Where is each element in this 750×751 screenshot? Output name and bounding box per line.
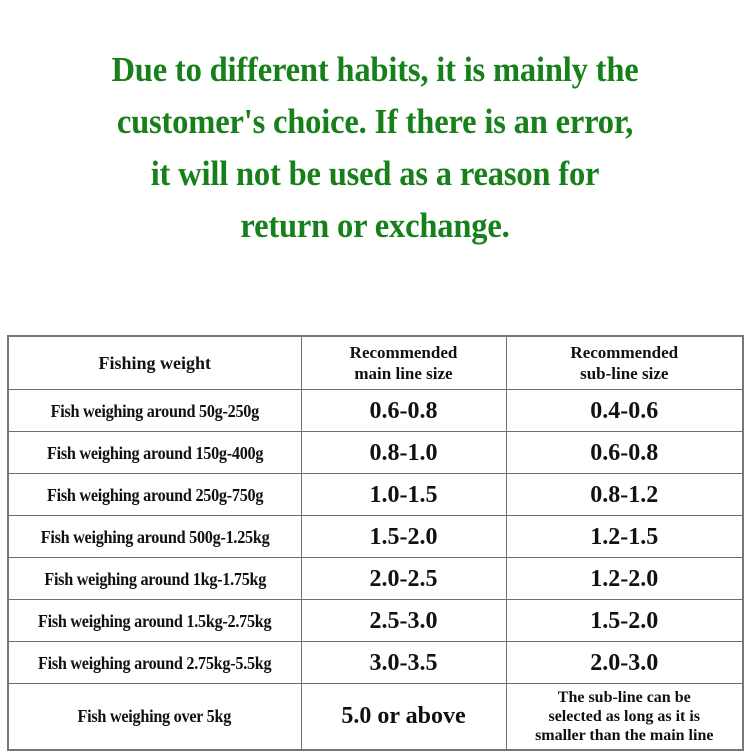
heading-line-1: Due to different habits, it is mainly th… (26, 44, 724, 96)
cell-sub-line-note-line1: The sub-line can be (513, 688, 737, 707)
heading-line-3: it will not be used as a reason for (26, 148, 724, 200)
cell-sub-line-size: 1.5-2.0 (506, 600, 743, 642)
table-row: Fish weighing around 1kg-1.75kg 2.0-2.5 … (8, 558, 743, 600)
table-row: Fish weighing around 250g-750g 1.0-1.5 0… (8, 474, 743, 516)
table-row: Fish weighing around 500g-1.25kg 1.5-2.0… (8, 516, 743, 558)
cell-fishing-weight-text: Fish weighing around 250g-750g (47, 484, 263, 506)
cell-sub-line-size-text: 1.5-2.0 (590, 607, 658, 635)
column-header-fishing-weight: Fishing weight (8, 336, 301, 390)
cell-sub-line-size-text: 1.2-2.0 (590, 565, 658, 593)
column-header-main-line-size: Recommended main line size (301, 336, 506, 390)
page-heading: Due to different habits, it is mainly th… (26, 44, 724, 252)
cell-main-line-size: 2.5-3.0 (301, 600, 506, 642)
cell-main-line-size: 1.5-2.0 (301, 516, 506, 558)
cell-fishing-weight-text: Fish weighing around 1.5kg-2.75kg (38, 610, 271, 632)
cell-sub-line-size: 0.8-1.2 (506, 474, 743, 516)
cell-fishing-weight-text: Fish weighing around 500g-1.25kg (40, 526, 269, 548)
cell-main-line-size: 0.6-0.8 (301, 390, 506, 432)
cell-fishing-weight-text: Fish weighing around 50g-250g (51, 400, 259, 422)
cell-fishing-weight: Fish weighing over 5kg (8, 684, 301, 750)
cell-sub-line-note-line3: smaller than the main line (513, 726, 737, 745)
table-row: Fish weighing around 150g-400g 0.8-1.0 0… (8, 432, 743, 474)
cell-sub-line-size: 1.2-2.0 (506, 558, 743, 600)
cell-main-line-size-text: 2.5-3.0 (370, 607, 438, 635)
column-header-sub-line-size-line2: sub-line size (509, 363, 741, 384)
cell-sub-line-size-text: 0.8-1.2 (590, 481, 658, 509)
cell-fishing-weight-text: Fish weighing over 5kg (78, 705, 232, 727)
cell-main-line-size-text: 1.0-1.5 (370, 481, 438, 509)
cell-main-line-size-text: 5.0 or above (341, 702, 465, 730)
table-row: Fish weighing over 5kg 5.0 or above The … (8, 684, 743, 750)
heading-line-4: return or exchange. (26, 200, 724, 252)
column-header-fishing-weight-line1: Fishing weight (11, 353, 299, 374)
cell-fishing-weight: Fish weighing around 2.75kg-5.5kg (8, 642, 301, 684)
table-row: Fish weighing around 50g-250g 0.6-0.8 0.… (8, 390, 743, 432)
cell-fishing-weight-text: Fish weighing around 1kg-1.75kg (44, 568, 266, 590)
table-row: Fish weighing around 2.75kg-5.5kg 3.0-3.… (8, 642, 743, 684)
cell-main-line-size: 3.0-3.5 (301, 642, 506, 684)
cell-main-line-size: 5.0 or above (301, 684, 506, 750)
cell-main-line-size-text: 2.0-2.5 (370, 565, 438, 593)
cell-main-line-size: 0.8-1.0 (301, 432, 506, 474)
cell-sub-line-size: 0.6-0.8 (506, 432, 743, 474)
cell-main-line-size-text: 0.6-0.8 (370, 397, 438, 425)
cell-sub-line-size-text: 1.2-1.5 (590, 523, 658, 551)
cell-sub-line-note-line2: selected as long as it is (513, 707, 737, 726)
column-header-main-line-size-line2: main line size (304, 363, 504, 384)
cell-main-line-size: 1.0-1.5 (301, 474, 506, 516)
column-header-sub-line-size-line1: Recommended (509, 342, 741, 363)
cell-fishing-weight: Fish weighing around 500g-1.25kg (8, 516, 301, 558)
cell-sub-line-size-text: 2.0-3.0 (590, 649, 658, 677)
cell-sub-line-size-text: 0.6-0.8 (590, 439, 658, 467)
column-header-sub-line-size: Recommended sub-line size (506, 336, 743, 390)
cell-main-line-size-text: 0.8-1.0 (370, 439, 438, 467)
column-header-main-line-size-line1: Recommended (304, 342, 504, 363)
cell-sub-line-size: 0.4-0.6 (506, 390, 743, 432)
table-header-row: Fishing weight Recommended main line siz… (8, 336, 743, 390)
cell-sub-line-size: 1.2-1.5 (506, 516, 743, 558)
line-size-recommendation-table: Fishing weight Recommended main line siz… (7, 335, 744, 751)
cell-main-line-size-text: 1.5-2.0 (370, 523, 438, 551)
cell-fishing-weight: Fish weighing around 50g-250g (8, 390, 301, 432)
cell-main-line-size: 2.0-2.5 (301, 558, 506, 600)
table-row: Fish weighing around 1.5kg-2.75kg 2.5-3.… (8, 600, 743, 642)
cell-fishing-weight: Fish weighing around 250g-750g (8, 474, 301, 516)
heading-line-2: customer's choice. If there is an error, (26, 96, 724, 148)
cell-fishing-weight: Fish weighing around 1kg-1.75kg (8, 558, 301, 600)
cell-fishing-weight: Fish weighing around 150g-400g (8, 432, 301, 474)
cell-sub-line-size: 2.0-3.0 (506, 642, 743, 684)
cell-sub-line-size-text: 0.4-0.6 (590, 397, 658, 425)
cell-sub-line-note: The sub-line can be selected as long as … (506, 684, 743, 750)
cell-fishing-weight: Fish weighing around 1.5kg-2.75kg (8, 600, 301, 642)
cell-main-line-size-text: 3.0-3.5 (370, 649, 438, 677)
cell-fishing-weight-text: Fish weighing around 150g-400g (47, 442, 263, 464)
cell-fishing-weight-text: Fish weighing around 2.75kg-5.5kg (38, 652, 271, 674)
